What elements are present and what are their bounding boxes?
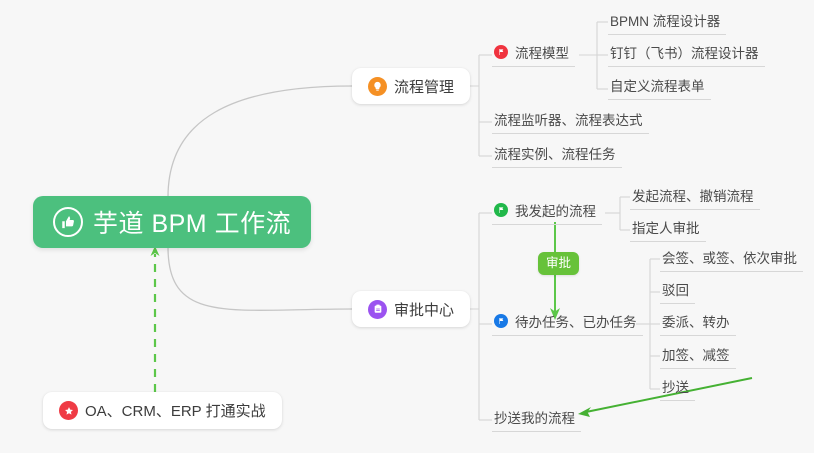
root-label: 芋道 BPM 工作流 — [93, 204, 291, 240]
branch-process-management[interactable]: 流程管理 — [352, 68, 470, 104]
node-my-started-processes[interactable]: 我发起的流程 — [492, 200, 602, 225]
thumbs-up-icon — [53, 207, 83, 237]
clipboard-icon — [368, 300, 387, 319]
approval-callout-label: 审批 — [546, 256, 571, 270]
node-custom-form[interactable]: 自定义流程表单 — [608, 75, 711, 100]
node-label: 委派、转办 — [662, 311, 730, 331]
node-instance-task[interactable]: 流程实例、流程任务 — [492, 143, 622, 168]
node-label: 流程实例、流程任务 — [494, 143, 616, 163]
node-label: 流程监听器、流程表达式 — [494, 109, 643, 129]
node-cc-to-me[interactable]: 抄送我的流程 — [492, 407, 581, 432]
flag-icon — [494, 203, 508, 217]
node-label: 发起流程、撤销流程 — [632, 185, 754, 205]
node-label: 抄送我的流程 — [494, 407, 575, 427]
node-label: BPMN 流程设计器 — [610, 10, 720, 30]
node-add-remove-sign[interactable]: 加签、减签 — [660, 344, 736, 369]
node-bpmn-designer[interactable]: BPMN 流程设计器 — [608, 10, 726, 35]
floating-note-label: OA、CRM、ERP 打通实战 — [85, 400, 266, 421]
node-label: 我发起的流程 — [515, 200, 596, 220]
node-listener-expression[interactable]: 流程监听器、流程表达式 — [492, 109, 649, 134]
link-root-to-process-management — [168, 86, 352, 197]
node-label: 会签、或签、依次审批 — [662, 247, 797, 267]
floating-note-card[interactable]: OA、CRM、ERP 打通实战 — [43, 392, 282, 429]
node-label: 指定人审批 — [632, 217, 700, 237]
flag-icon — [494, 45, 508, 59]
node-label: 钉钉（飞书）流程设计器 — [610, 42, 759, 62]
node-reject[interactable]: 驳回 — [660, 279, 695, 304]
node-countersign[interactable]: 会签、或签、依次审批 — [660, 247, 803, 272]
flag-icon — [494, 314, 508, 328]
node-label: 流程模型 — [515, 42, 569, 62]
arrow-note-to-root — [151, 246, 160, 392]
star-icon — [59, 401, 78, 420]
node-start-cancel-process[interactable]: 发起流程、撤销流程 — [630, 185, 760, 210]
mindmap-canvas: 芋道 BPM 工作流 流程管理 流程模型 BPMN 流程设计器 钉钉（飞书）流程… — [0, 0, 814, 453]
link-root-to-approval-center — [168, 247, 352, 310]
node-cc[interactable]: 抄送 — [660, 376, 695, 401]
node-label: 抄送 — [662, 376, 689, 396]
node-label: 待办任务、已办任务 — [515, 311, 637, 331]
approval-callout-badge[interactable]: 审批 — [538, 252, 579, 275]
branch-label: 流程管理 — [394, 76, 454, 97]
node-delegate-transfer[interactable]: 委派、转办 — [660, 311, 736, 336]
node-process-model[interactable]: 流程模型 — [492, 42, 575, 67]
branch-label: 审批中心 — [394, 299, 454, 320]
node-label: 加签、减签 — [662, 344, 730, 364]
node-todo-done-tasks[interactable]: 待办任务、已办任务 — [492, 311, 643, 336]
branch-approval-center[interactable]: 审批中心 — [352, 291, 470, 327]
node-dingtalk-designer[interactable]: 钉钉（飞书）流程设计器 — [608, 42, 765, 67]
lightbulb-icon — [368, 77, 387, 96]
node-label: 驳回 — [662, 279, 689, 299]
root-node[interactable]: 芋道 BPM 工作流 — [33, 196, 311, 248]
node-label: 自定义流程表单 — [610, 75, 705, 95]
node-assignee-approval[interactable]: 指定人审批 — [630, 217, 706, 242]
